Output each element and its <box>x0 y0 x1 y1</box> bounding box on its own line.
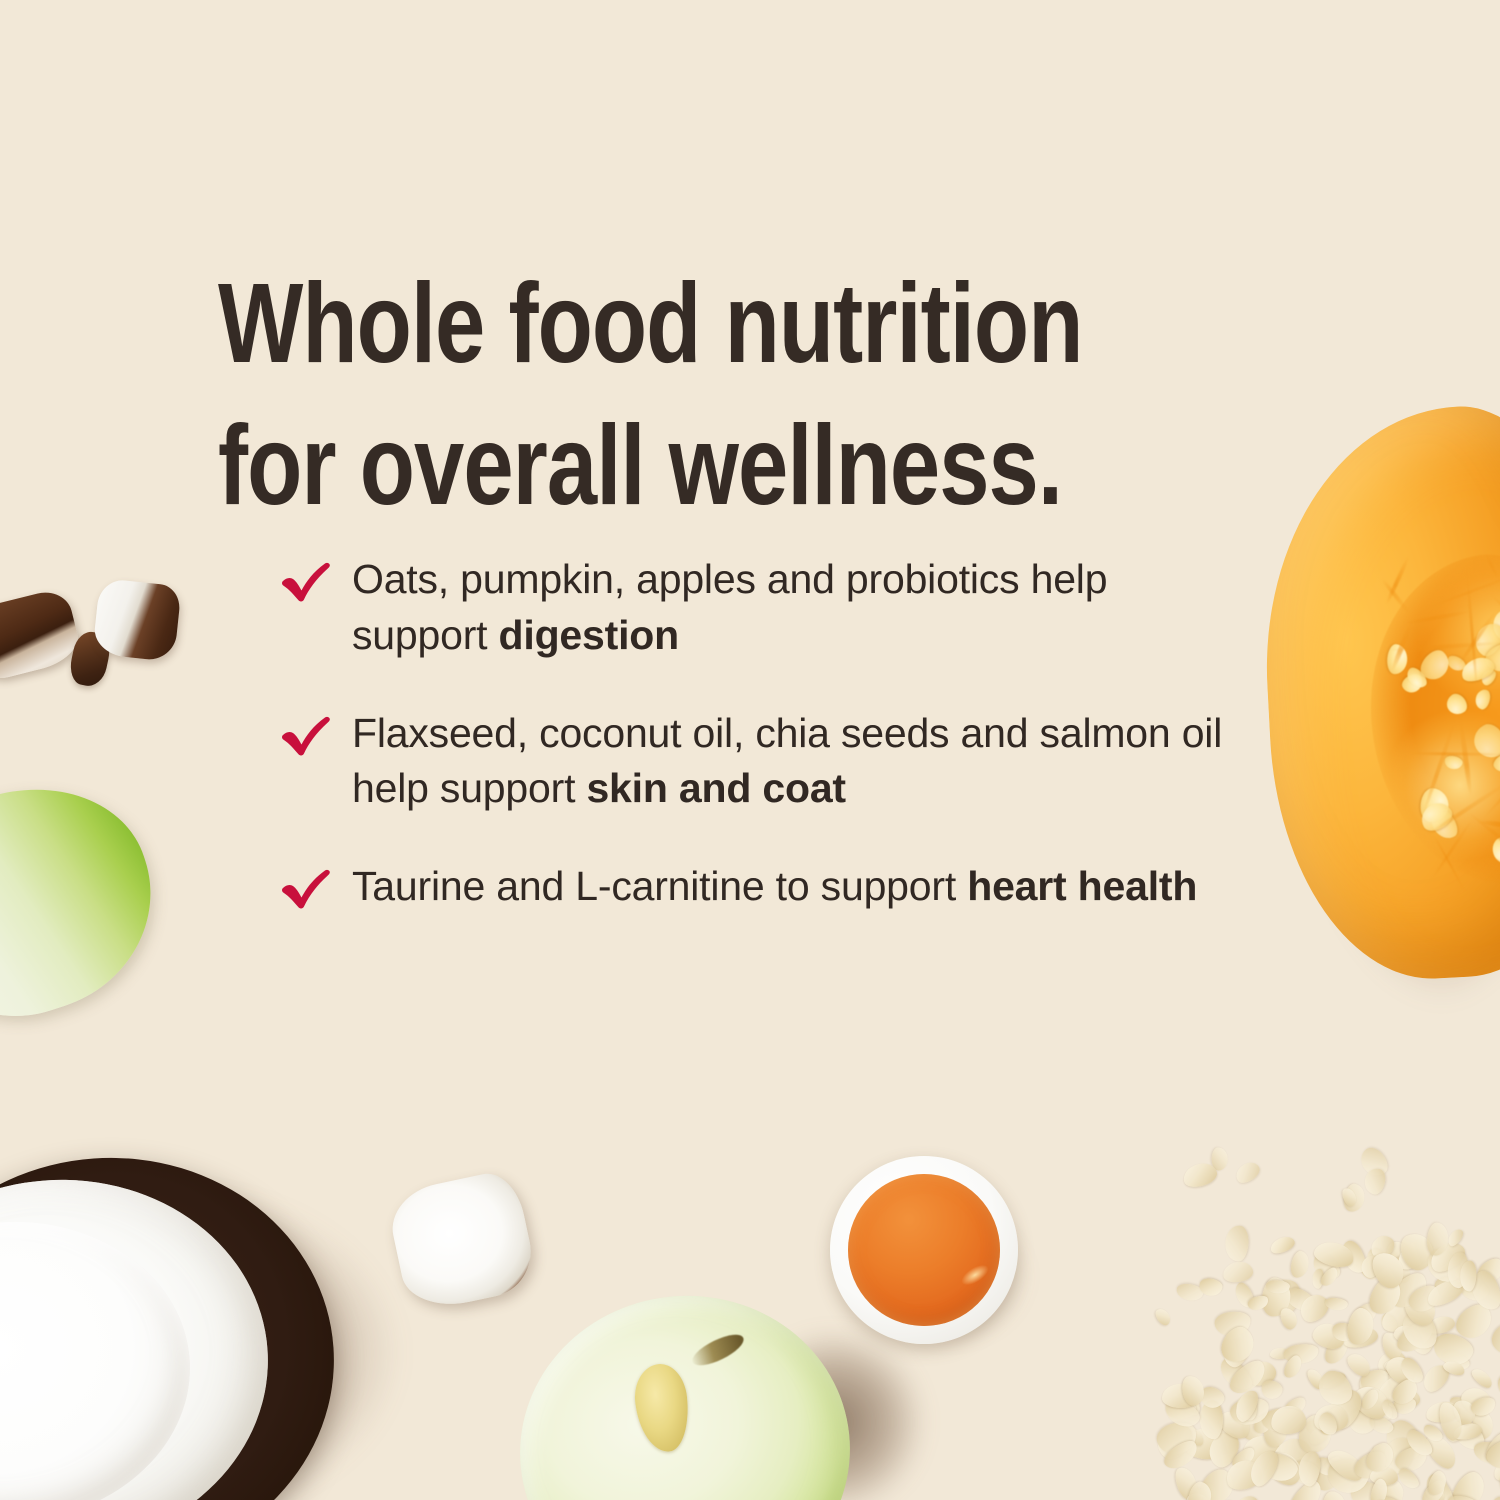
list-item: Flaxseed, coconut oil, chia seeds and sa… <box>280 706 1240 818</box>
coconut-husk <box>0 1143 348 1500</box>
rolled-oats-image <box>1130 1130 1500 1500</box>
coconut-chunk-c <box>92 578 181 662</box>
green-apple-slice-image <box>0 757 180 1045</box>
coconut-inner-bowl <box>0 1210 200 1500</box>
benefits-list: Oats, pumpkin, apples and probiotics hel… <box>280 552 1240 915</box>
oil-highlight <box>959 1261 992 1289</box>
apple-slice-notch <box>0 852 1 990</box>
apple-slice-shadow <box>0 812 170 1012</box>
bullet-lead-0: Oats, pumpkin, apples and probiotics hel… <box>352 556 1107 658</box>
apple-seed <box>632 1362 693 1455</box>
apple-stem <box>688 1329 747 1372</box>
coconut-chunk-a <box>0 587 83 684</box>
oil-bowl-shadow <box>836 1186 1056 1366</box>
coconut-half-shadow <box>0 1188 400 1500</box>
headline-line-2: for overall wellness. <box>218 394 1090 536</box>
pumpkin-half-image <box>1253 399 1500 986</box>
list-item-text: Oats, pumpkin, apples and probiotics hel… <box>352 556 1107 658</box>
bullet-lead-2: Taurine and L-carnitine to support <box>352 863 967 909</box>
promo-graphic: Whole food nutrition for overall wellnes… <box>0 0 1500 1500</box>
page-title: Whole food nutrition for overall wellnes… <box>218 252 1090 537</box>
checkmark-icon <box>280 867 332 911</box>
list-item: Taurine and L-carnitine to support heart… <box>280 859 1240 915</box>
list-item-text: Taurine and L-carnitine to support heart… <box>352 863 1197 909</box>
list-item: Oats, pumpkin, apples and probiotics hel… <box>280 552 1240 664</box>
salmon-oil-bowl-image <box>830 1156 1018 1344</box>
headline-line-1: Whole food nutrition <box>218 252 1090 394</box>
bullet-emphasis-0: digestion <box>499 612 679 658</box>
pumpkin-seed-cavity <box>1348 540 1500 902</box>
apple-half-shadow <box>596 1330 926 1500</box>
checkmark-icon <box>280 560 332 604</box>
list-item-text: Flaxseed, coconut oil, chia seeds and sa… <box>352 710 1222 812</box>
coconut-chunk-d <box>385 1168 539 1315</box>
salmon-oil-liquid <box>848 1174 1000 1326</box>
green-apple-half-image <box>505 1280 866 1500</box>
bullet-emphasis-1: skin and coat <box>586 765 845 811</box>
coconut-chunk-b <box>67 629 113 689</box>
bullet-emphasis-2: heart health <box>967 863 1197 909</box>
coconut-flesh <box>0 1166 280 1500</box>
checkmark-icon <box>280 714 332 758</box>
